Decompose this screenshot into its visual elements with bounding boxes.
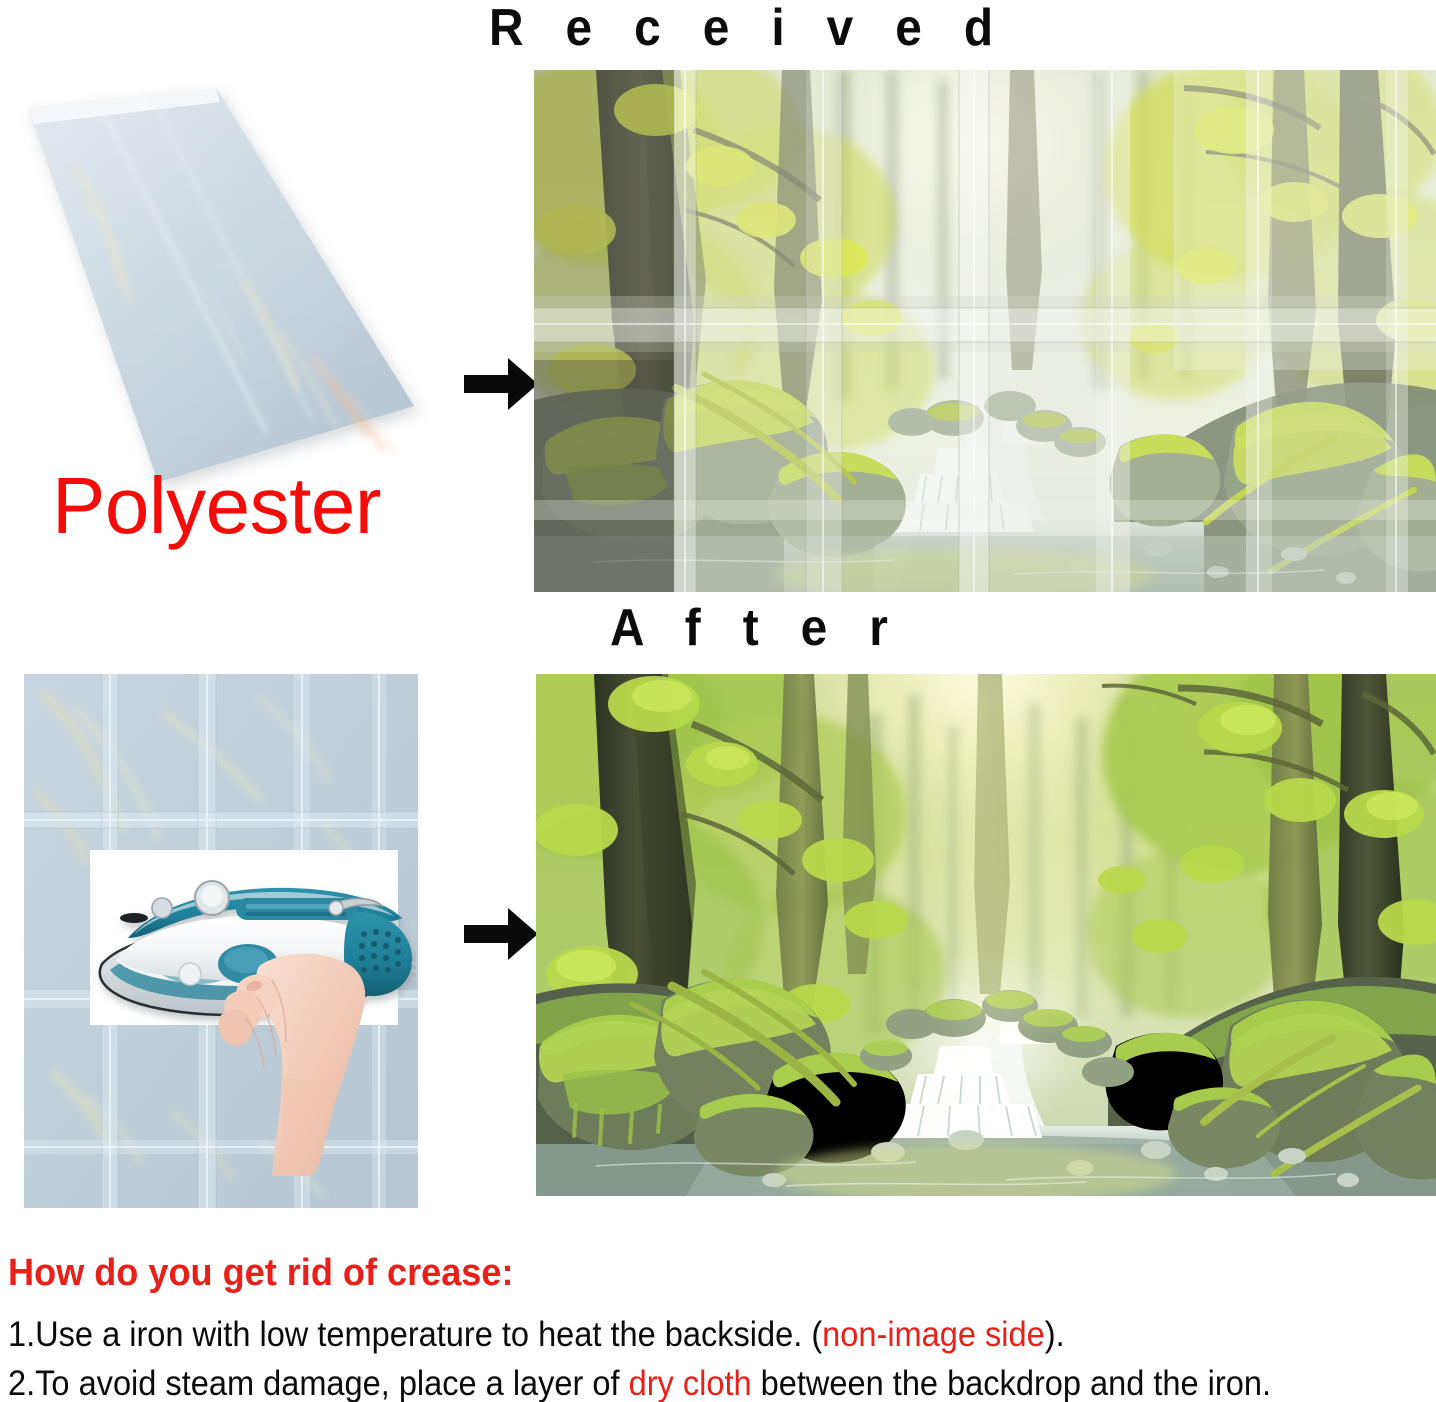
iron-white-panel: [90, 850, 398, 1025]
care-instructions: How do you get rid of crease: 1.Use a ir…: [8, 1252, 1432, 1402]
care-instruction-1: 1.Use a iron with low temperature to hea…: [8, 1313, 1332, 1358]
instruction-2-highlight: dry cloth: [629, 1364, 752, 1402]
after-backdrop-photo: [536, 674, 1436, 1196]
right-arrow-icon-2: [462, 905, 540, 963]
instruction-1-pre: 1.Use a iron with low temperature to hea…: [8, 1315, 822, 1354]
instruction-2-pre: 2.To avoid steam damage, place a layer o…: [8, 1364, 629, 1402]
forest-stream-scene-creased: [534, 70, 1436, 592]
care-instruction-2: 2.To avoid steam damage, place a layer o…: [8, 1362, 1332, 1402]
polyester-label: Polyester: [52, 460, 381, 552]
instruction-2-post: between the backdrop and the iron.: [752, 1364, 1271, 1402]
instruction-1-post: ).: [1045, 1315, 1065, 1354]
infographic-root: R e c e i v e d: [0, 0, 1436, 1402]
forest-stream-scene-clean: [536, 674, 1436, 1196]
received-backdrop-photo: [534, 70, 1436, 592]
folded-polyester-fabric: [12, 82, 432, 492]
right-arrow-icon: [462, 355, 540, 413]
instruction-1-highlight: non-image side: [822, 1315, 1045, 1354]
care-instructions-heading: How do you get rid of crease:: [8, 1252, 1361, 1295]
after-heading: A f t e r: [610, 602, 902, 654]
received-heading: R e c e i v e d: [489, 2, 1007, 54]
